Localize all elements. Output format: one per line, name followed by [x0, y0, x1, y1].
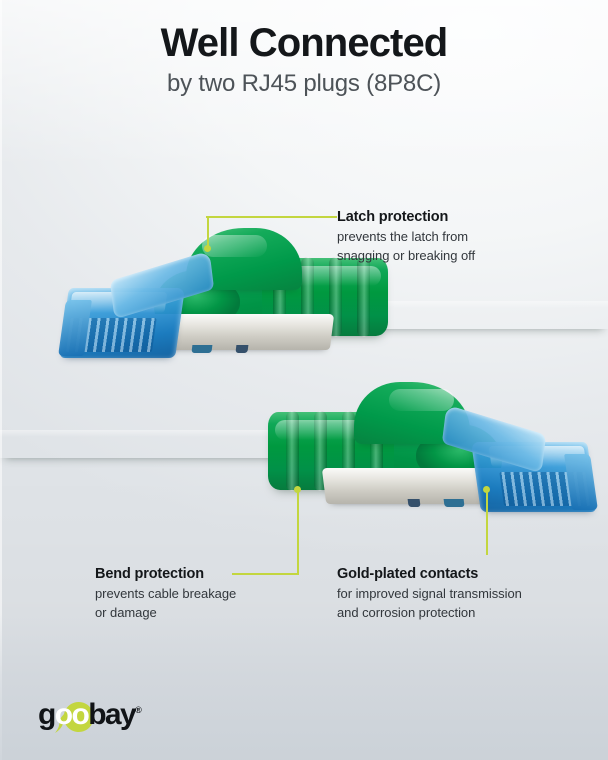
shield-notch	[235, 345, 248, 353]
boot-rib	[357, 257, 370, 337]
callout-body-line: for improved signal transmission	[337, 585, 522, 604]
callout-body: prevents the latch from snagging or brea…	[337, 228, 475, 266]
callout-heading: Bend protection	[95, 565, 236, 583]
hood-highlight	[202, 235, 267, 256]
logo-registered-mark: ®	[135, 705, 142, 715]
hood-highlight	[389, 389, 454, 410]
rj45-connector-bottom	[268, 372, 598, 502]
callout-text-latch-protection: Latch protection prevents the latch from…	[337, 208, 475, 266]
rj45-plug-blue	[460, 420, 592, 514]
callout-heading: Gold-plated contacts	[337, 565, 522, 583]
page-title: Well Connected	[0, 22, 608, 64]
cable-highlight	[0, 430, 300, 437]
cable-bottom	[0, 425, 300, 458]
header: Well Connected by two RJ45 plugs (8P8C)	[0, 22, 608, 98]
page-subtitle: by two RJ45 plugs (8P8C)	[0, 70, 608, 98]
logo-letters-oo: oo	[55, 698, 88, 731]
callout-segment-vertical	[486, 490, 488, 555]
callout-body-line: prevents the latch from	[337, 228, 475, 247]
shield-notch	[408, 499, 421, 507]
logo-letters-bay: bay	[88, 698, 135, 731]
infographic-page: Well Connected by two RJ45 plugs (8P8C)	[0, 0, 608, 760]
boot-rib	[286, 411, 299, 491]
callout-segment-vertical	[207, 216, 209, 248]
rj45-plug-blue	[64, 266, 196, 360]
callout-heading: Latch protection	[337, 208, 475, 226]
callout-body: prevents cable breakage or damage	[95, 585, 236, 623]
callout-body-line: and corrosion protection	[337, 604, 522, 623]
callout-body-line: prevents cable breakage	[95, 585, 236, 604]
goobay-logo: goobay®	[38, 700, 178, 740]
logo-letter-g: g	[38, 698, 55, 731]
callout-segment-horizontal	[232, 573, 298, 575]
callout-body-line: or damage	[95, 604, 236, 623]
callout-text-bend-protection: Bend protection prevents cable breakage …	[95, 565, 236, 623]
callout-text-gold-plated-contacts: Gold-plated contacts for improved signal…	[337, 565, 522, 623]
logo-wordmark: goobay®	[38, 700, 178, 730]
callout-segment-vertical	[297, 490, 299, 575]
callout-body-line: snagging or breaking off	[337, 247, 475, 266]
callout-body: for improved signal transmission and cor…	[337, 585, 522, 623]
callout-segment-horizontal	[206, 216, 337, 218]
